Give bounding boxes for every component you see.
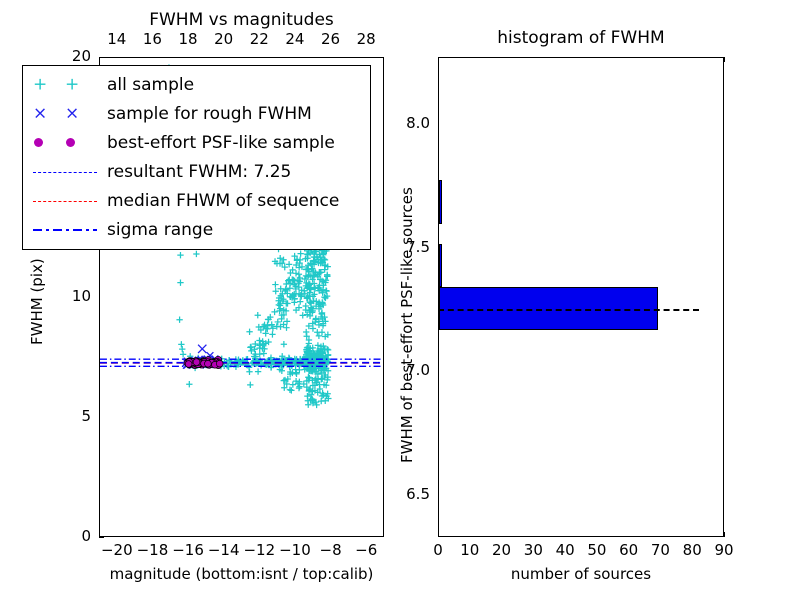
left-y-tick-mark — [99, 537, 104, 538]
legend-marker-dashed-line-icon — [29, 162, 107, 182]
right-axes[interactable] — [438, 57, 724, 537]
legend-item[interactable]: ××sample for rough FWHM — [23, 99, 370, 128]
left-y-tick-label: 20 — [57, 47, 91, 65]
right-x-tick-mark — [724, 532, 725, 537]
left-top-tick-label: 28 — [352, 30, 380, 48]
histogram-bar — [439, 244, 442, 287]
legend-marker-dashdot-line-icon — [29, 220, 107, 240]
dashdot-line-icon — [33, 229, 97, 231]
left-ylabel: FWHM (pix) — [28, 258, 46, 345]
right-x-tick-label: 30 — [517, 541, 549, 559]
right-y-tick-label: 8.0 — [390, 114, 430, 132]
right-x-tick-label: 70 — [644, 541, 676, 559]
right-x-tick-label: 60 — [613, 541, 645, 559]
legend-marker-cross-icon: ×× — [29, 104, 107, 124]
legend-item[interactable]: best-effort PSF-like sample — [23, 128, 370, 157]
right-xlabel: number of sources — [438, 565, 724, 583]
legend[interactable]: ++all sample××sample for rough FWHMbest-… — [22, 65, 371, 250]
left-bottom-tick-label: −8 — [311, 541, 351, 559]
median-dashed-line — [438, 309, 699, 311]
dashed-line-icon — [33, 201, 97, 202]
legend-label: sample for rough FWHM — [107, 104, 312, 124]
right-x-tick-label: 90 — [708, 541, 740, 559]
left-xlabel: magnitude (bottom:isnt / top:calib) — [99, 565, 384, 583]
left-top-tick-label: 26 — [317, 30, 345, 48]
left-bottom-tick-label: −10 — [275, 541, 315, 559]
right-x-tick-label: 80 — [676, 541, 708, 559]
left-top-tick-label: 18 — [174, 30, 202, 48]
left-bottom-tick-label: −20 — [97, 541, 137, 559]
left-top-tick-label: 16 — [138, 30, 166, 48]
right-x-tick-label: 20 — [486, 541, 518, 559]
plus-icon: + — [65, 76, 79, 93]
left-top-tick-label: 24 — [281, 30, 309, 48]
figure-canvas: FWHM vs magnitudes 1416182022242628 −20−… — [0, 0, 800, 600]
legend-label: median FHWM of sequence — [107, 191, 339, 211]
left-bottom-tick-label: −18 — [132, 541, 172, 559]
right-ylabel: FWHM of best-effort PSF-like sources — [398, 187, 416, 463]
legend-label: best-effort PSF-like sample — [107, 133, 335, 153]
histogram-bar — [439, 180, 442, 223]
right-x-tick-label: 40 — [549, 541, 581, 559]
cross-icon: × — [33, 105, 47, 122]
left-bottom-tick-label: −6 — [346, 541, 386, 559]
left-plot-title: FWHM vs magnitudes — [99, 10, 384, 30]
cross-icon: × — [65, 105, 79, 122]
dot-icon — [34, 138, 43, 147]
dot-icon — [66, 138, 75, 147]
left-y-tick-label: 0 — [57, 527, 91, 545]
right-x-tick-mark-top — [724, 57, 725, 62]
left-top-tick-label: 14 — [103, 30, 131, 48]
legend-item[interactable]: resultant FWHM: 7.25 — [23, 157, 370, 186]
legend-item[interactable]: median FHWM of sequence — [23, 186, 370, 215]
right-x-tick-label: 10 — [454, 541, 486, 559]
legend-marker-dashed-line-icon — [29, 191, 107, 211]
legend-label: resultant FWHM: 7.25 — [107, 162, 291, 182]
left-bottom-tick-label: −12 — [239, 541, 279, 559]
left-top-tick-label: 20 — [210, 30, 238, 48]
right-x-tick-label: 50 — [581, 541, 613, 559]
legend-item[interactable]: sigma range — [23, 215, 370, 244]
legend-item[interactable]: ++all sample — [23, 70, 370, 99]
legend-marker-dot-icon — [29, 133, 107, 153]
legend-marker-plus-icon: ++ — [29, 75, 107, 95]
left-top-tick-label: 22 — [245, 30, 273, 48]
plus-icon: + — [33, 76, 47, 93]
left-bottom-tick-label: −14 — [204, 541, 244, 559]
legend-label: all sample — [107, 75, 194, 95]
dashed-line-icon — [33, 172, 97, 173]
left-y-tick-label: 5 — [57, 407, 91, 425]
left-bottom-tick-label: −16 — [168, 541, 208, 559]
right-plot-title: histogram of FWHM — [438, 28, 724, 48]
legend-label: sigma range — [107, 220, 213, 240]
right-x-tick-label: 0 — [422, 541, 454, 559]
left-y-tick-label: 10 — [57, 287, 91, 305]
right-y-tick-label: 6.5 — [390, 485, 430, 503]
